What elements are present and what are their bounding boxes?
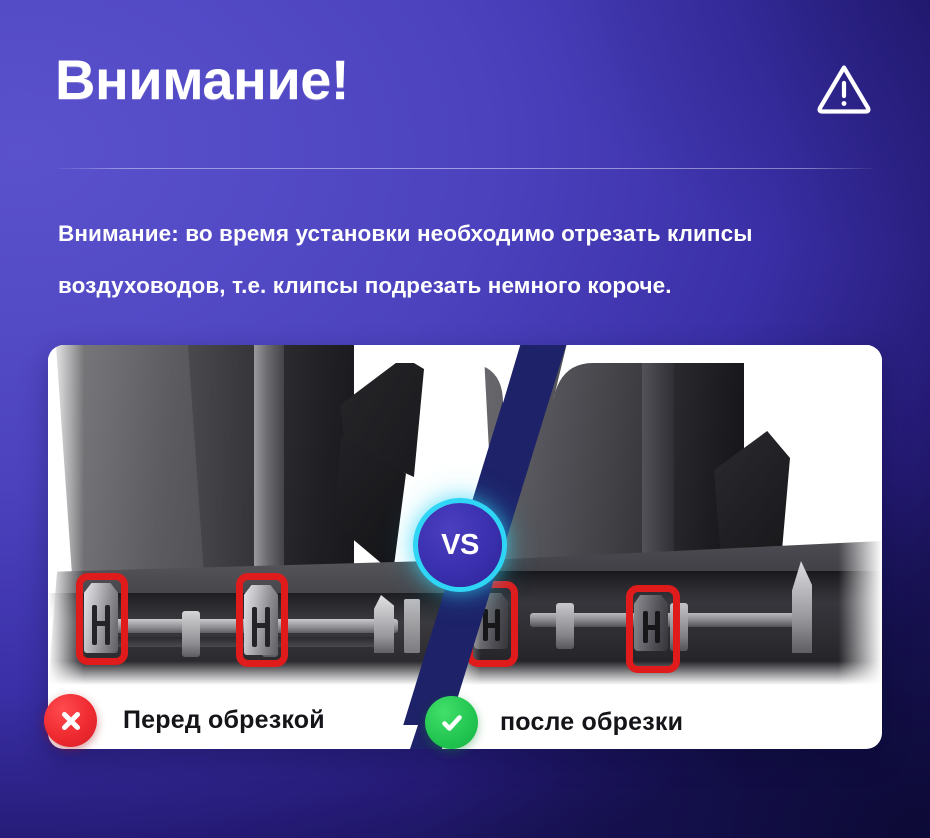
check-icon — [425, 696, 478, 749]
vs-label: VS — [441, 529, 479, 562]
cross-icon — [44, 694, 97, 747]
body-paragraph: Внимание: во время установки необходимо … — [58, 208, 888, 312]
duct-tab — [556, 603, 574, 649]
page-title: Внимание! — [55, 52, 349, 108]
header: Внимание! — [0, 0, 930, 170]
label-after-cutting: после обрезки — [425, 696, 683, 749]
duct-tab — [182, 611, 200, 657]
duct-tab — [374, 595, 394, 653]
label-before-text: Перед обрезкой — [123, 706, 325, 735]
duct-tab — [670, 603, 688, 651]
duct-clip-long — [244, 585, 278, 655]
warning-triangle-icon — [816, 62, 872, 116]
label-after-text: после обрезки — [500, 708, 683, 737]
photo-after-cutting — [446, 345, 882, 685]
duct-clip-trimmed — [474, 593, 508, 649]
label-before-cutting: Перед обрезкой — [44, 694, 325, 747]
duct-tab — [404, 599, 420, 653]
header-divider — [58, 168, 872, 169]
duct-clip-long — [84, 583, 118, 653]
duct-clip-trimmed — [634, 595, 668, 651]
duct-illustration-after — [446, 345, 882, 685]
vs-badge: VS — [418, 503, 502, 587]
